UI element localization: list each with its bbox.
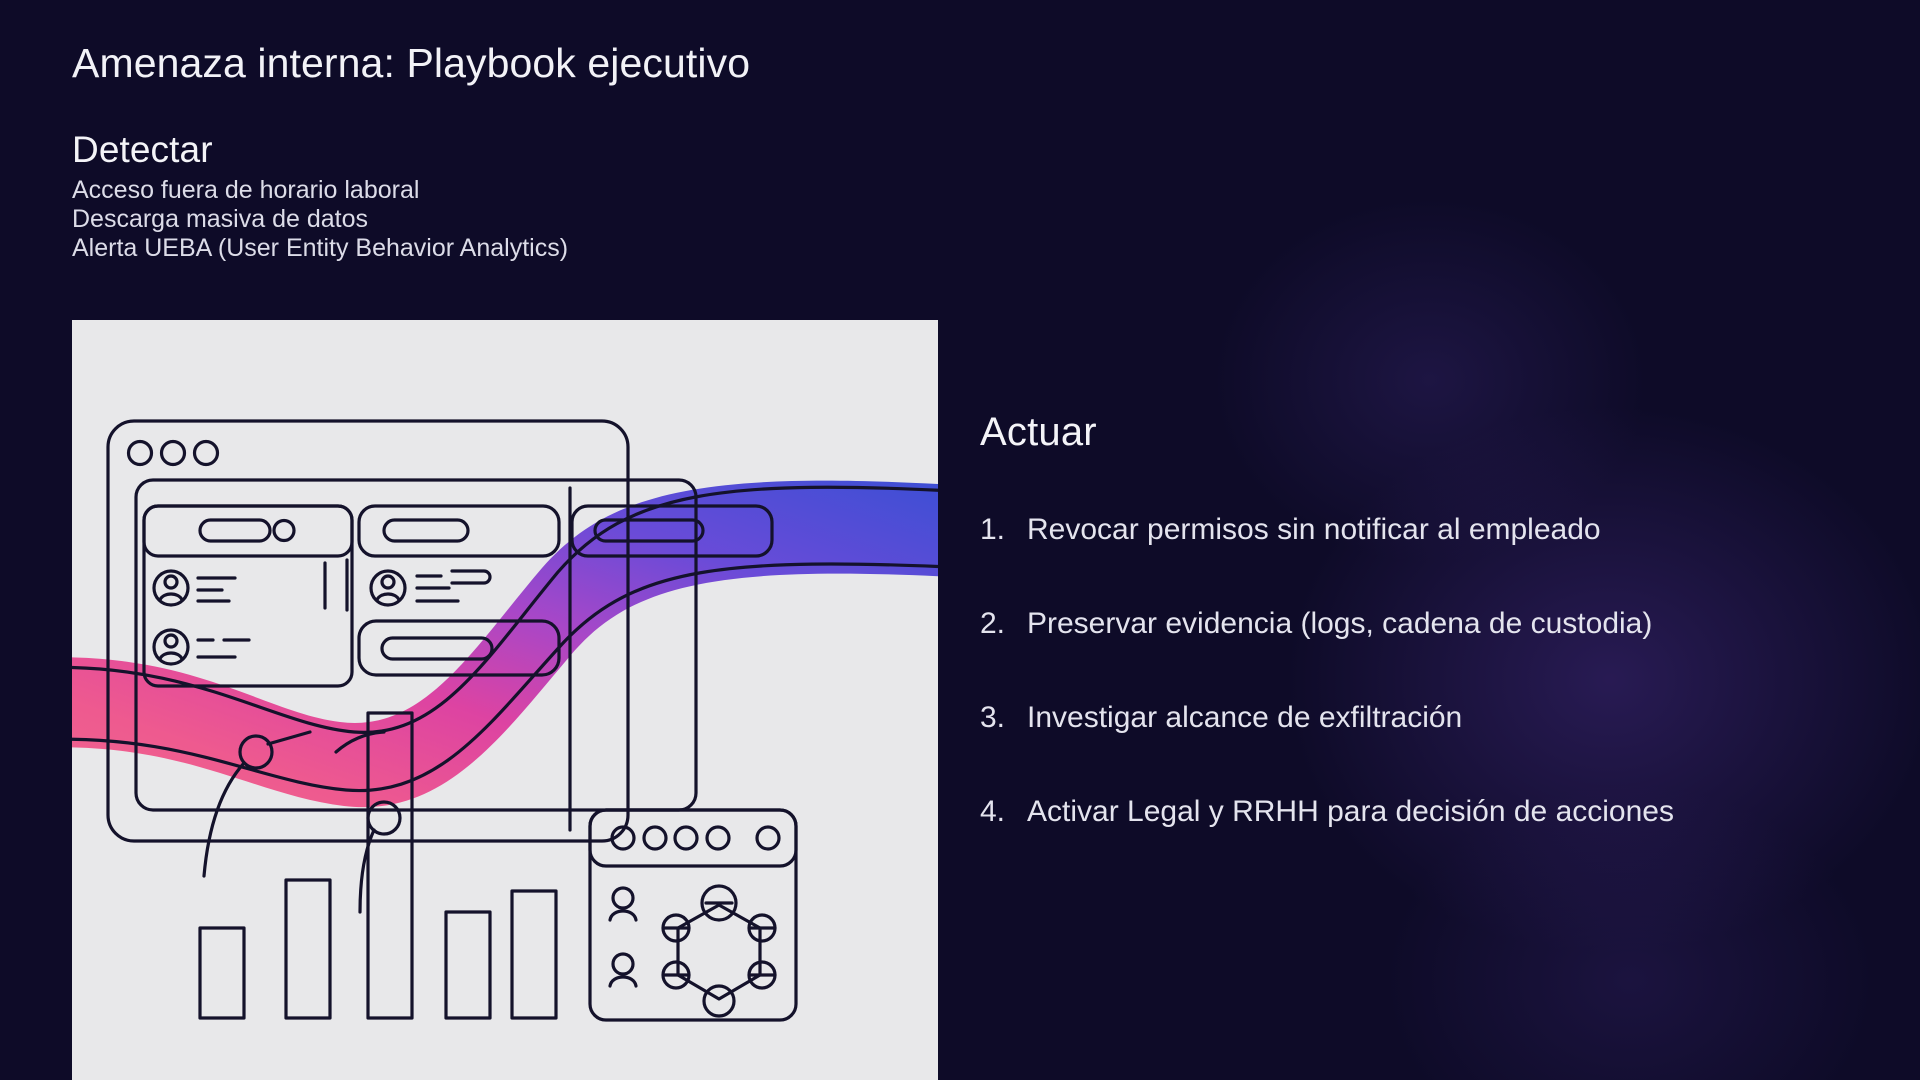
analytics-dashboard-illustration [72, 320, 938, 1080]
act-list-item: 3. Investigar alcance de exfiltración [980, 701, 1880, 735]
detect-section: Detectar Acceso fuera de horario laboral… [72, 130, 892, 263]
act-section: Actuar 1. Revocar permisos sin notificar… [980, 410, 1880, 829]
act-list-item: 4. Activar Legal y RRHH para decisión de… [980, 795, 1880, 829]
detect-list-item: Alerta UEBA (User Entity Behavior Analyt… [72, 234, 892, 263]
act-list-item: 1. Revocar permisos sin notificar al emp… [980, 513, 1880, 547]
act-heading: Actuar [980, 410, 1880, 455]
act-item-number: 3. [980, 701, 1027, 735]
detect-list-item: Descarga masiva de datos [72, 205, 892, 234]
page-title: Amenaza interna: Playbook ejecutivo [72, 40, 750, 87]
detect-heading: Detectar [72, 130, 892, 170]
detect-list: Acceso fuera de horario laboral Descarga… [72, 176, 892, 263]
illustration-panel [72, 320, 938, 1080]
act-item-number: 4. [980, 795, 1027, 829]
detect-list-item: Acceso fuera de horario laboral [72, 176, 892, 205]
act-item-number: 2. [980, 607, 1027, 641]
act-list: 1. Revocar permisos sin notificar al emp… [980, 513, 1880, 829]
slide-root: Amenaza interna: Playbook ejecutivo Dete… [0, 0, 1920, 1080]
act-item-text: Activar Legal y RRHH para decisión de ac… [1027, 795, 1674, 829]
act-item-text: Revocar permisos sin notificar al emplea… [1027, 513, 1601, 547]
act-item-text: Preservar evidencia (logs, cadena de cus… [1027, 607, 1652, 641]
act-item-number: 1. [980, 513, 1027, 547]
act-list-item: 2. Preservar evidencia (logs, cadena de … [980, 607, 1880, 641]
act-item-text: Investigar alcance de exfiltración [1027, 701, 1462, 735]
